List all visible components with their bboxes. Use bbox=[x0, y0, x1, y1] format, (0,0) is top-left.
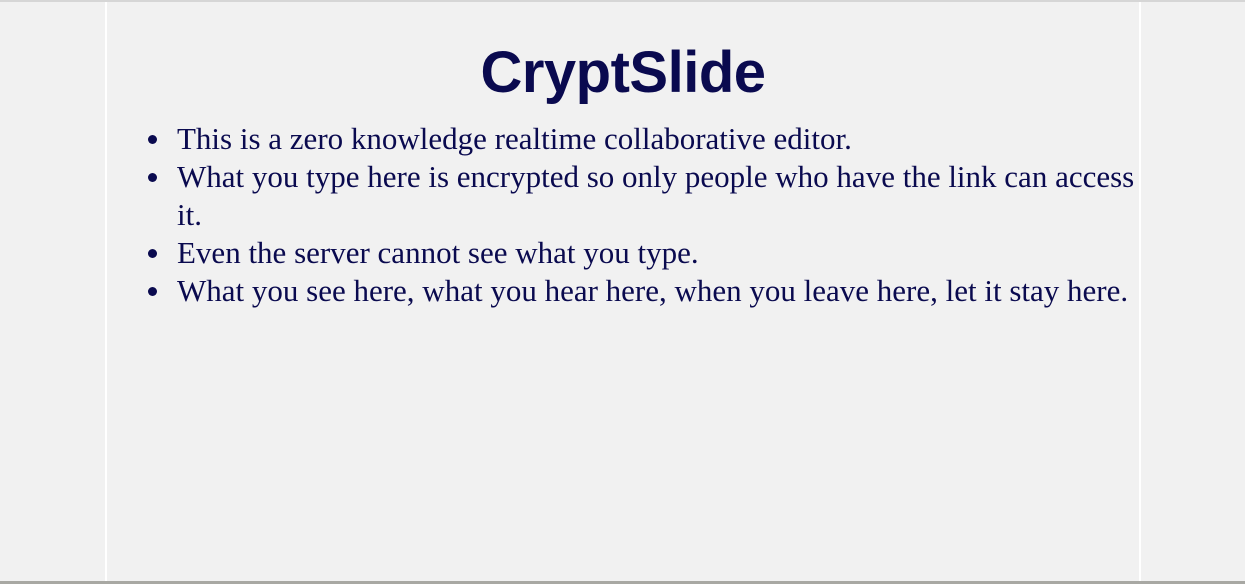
slide-title[interactable]: CryptSlide bbox=[107, 42, 1139, 104]
right-margin-gutter bbox=[1141, 2, 1245, 581]
left-margin-gutter bbox=[0, 2, 105, 581]
slide-viewport: CryptSlide This is a zero knowledge real… bbox=[0, 0, 1245, 584]
bullet-dot-icon bbox=[148, 135, 157, 144]
bullet-dot-icon bbox=[148, 287, 157, 296]
slide-body[interactable]: This is a zero knowledge realtime collab… bbox=[107, 120, 1139, 310]
list-item[interactable]: Even the server cannot see what you type… bbox=[107, 234, 1139, 272]
slide-right-edge bbox=[1139, 2, 1141, 581]
bullet-list: This is a zero knowledge realtime collab… bbox=[107, 120, 1139, 310]
list-item[interactable]: What you see here, what you hear here, w… bbox=[107, 272, 1139, 310]
bullet-dot-icon bbox=[148, 249, 157, 258]
bullet-text: Even the server cannot see what you type… bbox=[177, 234, 1139, 272]
bullet-text: This is a zero knowledge realtime collab… bbox=[177, 120, 1139, 158]
slide-canvas[interactable]: CryptSlide This is a zero knowledge real… bbox=[107, 2, 1139, 581]
bullet-text: What you type here is encrypted so only … bbox=[177, 158, 1139, 234]
list-item[interactable]: This is a zero knowledge realtime collab… bbox=[107, 120, 1139, 158]
bullet-text: What you see here, what you hear here, w… bbox=[177, 272, 1139, 310]
bullet-dot-icon bbox=[148, 173, 157, 182]
list-item[interactable]: What you type here is encrypted so only … bbox=[107, 158, 1139, 234]
